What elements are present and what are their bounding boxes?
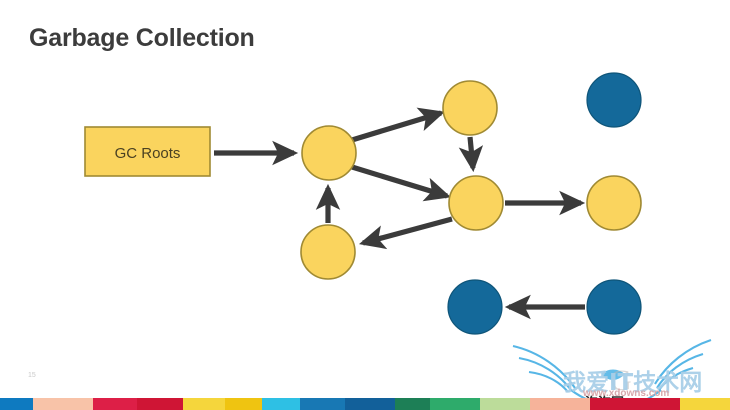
footer-color-segment: [590, 398, 680, 410]
footer-color-segment: [0, 398, 33, 410]
node-blue-left: [448, 280, 502, 334]
footer-color-segment: [530, 398, 590, 410]
footer-color-bar: [0, 398, 730, 410]
page-number: 15: [28, 372, 36, 379]
object-reachability-diagram: GC Roots: [0, 0, 730, 410]
footer-color-segment: [300, 398, 345, 410]
node-blue-top: [587, 73, 641, 127]
edge-hub-to-top: [352, 113, 441, 140]
footer-color-segment: [33, 398, 93, 410]
footer-color-segment: [480, 398, 530, 410]
edge-hub-to-midright: [352, 167, 447, 196]
footer-color-segment: [680, 398, 730, 410]
footer-color-segment: [345, 398, 395, 410]
footer-color-segment: [93, 398, 137, 410]
footer-color-segment: [430, 398, 480, 410]
footer-color-segment: [395, 398, 430, 410]
node-blue-right: [587, 280, 641, 334]
node-far-right: [587, 176, 641, 230]
footer-color-segment: [183, 398, 225, 410]
node-mid-right: [449, 176, 503, 230]
slide-canvas: Garbage Collection GC Roots: [0, 0, 730, 410]
node-top: [443, 81, 497, 135]
footer-color-segment: [262, 398, 300, 410]
footer-color-segment: [225, 398, 262, 410]
gc-roots-label: GC Roots: [115, 145, 181, 162]
gc-roots-box: GC Roots: [85, 127, 210, 176]
node-lower-left: [301, 225, 355, 279]
edge-midright-to-lowerleft: [363, 219, 452, 243]
node-hub: [302, 126, 356, 180]
footer-color-segment: [137, 398, 183, 410]
edge-group: [214, 113, 585, 307]
edge-top-to-midright: [470, 137, 473, 168]
